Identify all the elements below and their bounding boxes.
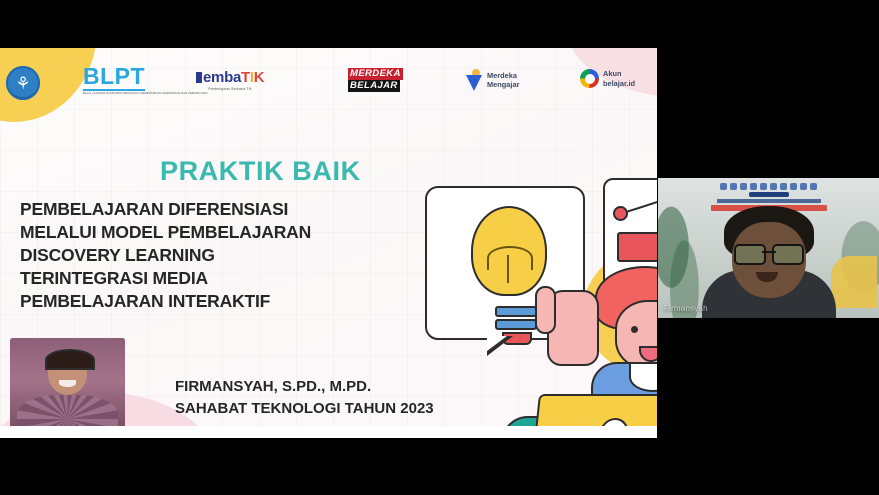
merdeka-mengajar-logo: Merdeka Mengajar (466, 69, 519, 91)
akun-belajar-id-line1: Akun (603, 69, 621, 78)
shared-screen-slide[interactable]: ⚘ BLPT BALAI LAYANAN PLATFORM TEKNOLOGI … (0, 48, 657, 438)
merdeka-mengajar-line2: Mengajar (487, 80, 519, 89)
presenter-photo (10, 338, 125, 438)
lightbulb-base-icon (495, 306, 537, 336)
lightbulb-filament-stem (507, 255, 509, 283)
board-dot-1 (613, 206, 628, 221)
video-background-plant-left (658, 200, 702, 318)
blpt-logo-sub: BALAI LAYANAN PLATFORM TEKNOLOGI KEMENTE… (83, 92, 208, 95)
tut-wuri-handayani-icon: ⚘ (6, 66, 40, 100)
merdeka-belajar-line2: BELAJAR (348, 80, 400, 92)
headline-line-5: PEMBELAJARAN INTERAKTIF (20, 290, 420, 313)
presenter-role: SAHABAT TEKNOLOGI TAHUN 2023 (175, 398, 434, 420)
person-with-laptop-icon (573, 266, 657, 438)
banner-logo-row (666, 183, 871, 190)
meeting-stage: ⚘ BLPT BALAI LAYANAN PLATFORM TEKNOLOGI … (0, 0, 879, 495)
merdeka-mengajar-line1: Merdeka (487, 71, 517, 80)
person-eye-left (631, 326, 638, 333)
headline-line-1: PEMBELAJARAN DIFERENSIASI (20, 198, 420, 221)
blpt-logo: BLPT BALAI LAYANAN PLATFORM TEKNOLOGI KE… (83, 66, 208, 95)
presenter-name: FIRMANSYAH, S.PD., M.PD. (175, 376, 434, 398)
akun-belajar-id-label: Akun belajar.id (603, 69, 635, 88)
participant-video-tile[interactable]: Firmansyah (658, 178, 879, 318)
eyeglasses-icon (734, 244, 804, 261)
slide-illustration (425, 178, 657, 438)
slide-eyebrow: PRAKTIK BAIK (160, 156, 361, 187)
person-pointing-finger (535, 286, 556, 334)
headline-line-2: MELALUI MODEL PEMBELAJARAN (20, 221, 420, 244)
merdeka-belajar-logo: MERDEKA BELAJAR (348, 68, 403, 92)
slide-logo-bar: ⚘ BLPT BALAI LAYANAN PLATFORM TEKNOLOGI … (0, 60, 657, 108)
merdeka-mengajar-icon (466, 69, 483, 91)
presenter-photo-hair (45, 349, 95, 371)
participant-figure (706, 206, 832, 318)
akun-belajar-id-icon (580, 69, 599, 88)
participant-name-label: Firmansyah (664, 304, 708, 313)
presenter-credit: FIRMANSYAH, S.PD., M.PD. SAHABAT TEKNOLO… (175, 376, 434, 420)
pembatik-logo-label: embaTIK (196, 70, 264, 85)
board-red-rect (617, 232, 657, 262)
tut-wuri-glyph: ⚘ (15, 75, 30, 92)
blpt-logo-label: BLPT (83, 66, 145, 91)
lightbulb-icon (471, 206, 547, 296)
pembatik-logo: embaTIK Pembelajaran Berbasis TIK (196, 70, 264, 91)
slide-bottom-strip (0, 426, 657, 438)
lightbulb-filament (487, 246, 533, 270)
video-background-curtain (831, 256, 877, 308)
akun-belajar-id-line2: belajar.id (603, 79, 635, 88)
akun-belajar-id-logo: Akun belajar.id (580, 69, 635, 88)
headline-line-4: TERINTEGRASI MEDIA (20, 267, 420, 290)
merdeka-mengajar-label: Merdeka Mengajar (487, 71, 519, 90)
merdeka-belajar-line1: MERDEKA (348, 68, 403, 80)
headline-line-3: DISCOVERY LEARNING (20, 244, 420, 267)
pembatik-logo-sub: Pembelajaran Berbasis TIK (208, 87, 252, 91)
person-hand (547, 290, 599, 366)
slide-headline: PEMBELAJARAN DIFERENSIASI MELALUI MODEL … (20, 198, 420, 313)
banner-pill (749, 192, 789, 197)
banner-text-line-1 (717, 199, 821, 203)
